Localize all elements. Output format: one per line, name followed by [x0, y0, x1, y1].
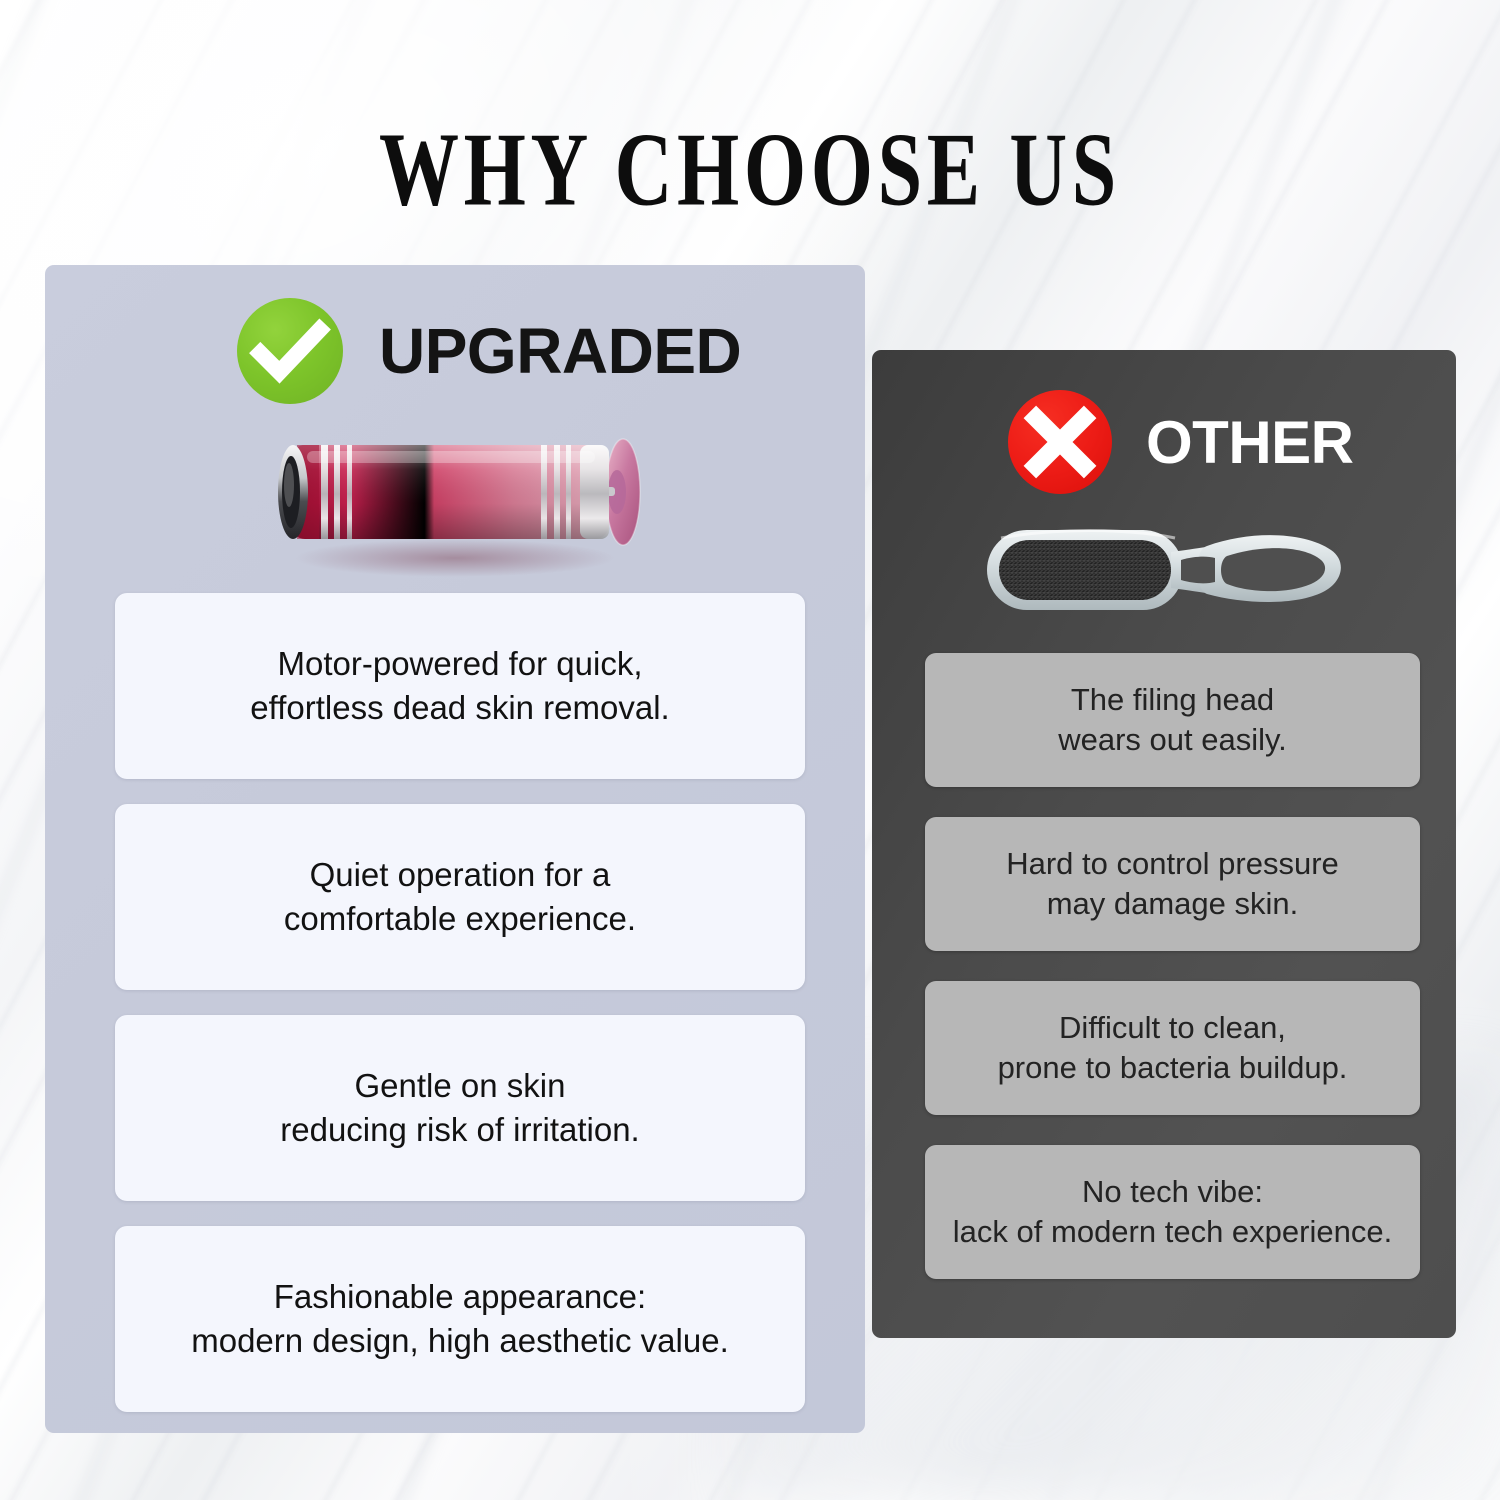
list-item: Gentle on skin reducing risk of irritati…	[115, 1015, 805, 1201]
list-item: No tech vibe: lack of modern tech experi…	[925, 1145, 1420, 1279]
feature-text: Difficult to clean, prone to bacteria bu…	[998, 1008, 1348, 1089]
x-circle-icon	[1008, 390, 1112, 494]
header-other: OTHER	[1008, 390, 1354, 494]
upgraded-label: UPGRADED	[379, 314, 741, 388]
other-label: OTHER	[1146, 408, 1354, 477]
feature-text: Motor-powered for quick, effortless dead…	[250, 642, 669, 729]
feature-text: Hard to control pressure may damage skin…	[1006, 844, 1339, 925]
list-item: Hard to control pressure may damage skin…	[925, 817, 1420, 951]
feature-text: The filing head wears out easily.	[1058, 680, 1287, 761]
list-item: Fashionable appearance: modern design, h…	[115, 1226, 805, 1412]
list-item: Quiet operation for a comfortable experi…	[115, 804, 805, 990]
header-upgraded: UPGRADED	[237, 298, 741, 404]
list-item: Difficult to clean, prone to bacteria bu…	[925, 981, 1420, 1115]
check-circle-icon	[237, 298, 343, 404]
other-feature-list: The filing head wears out easily. Hard t…	[925, 653, 1420, 1279]
list-item: The filing head wears out easily.	[925, 653, 1420, 787]
feature-text: No tech vibe: lack of modern tech experi…	[953, 1172, 1392, 1253]
feature-text: Quiet operation for a comfortable experi…	[284, 853, 636, 940]
infographic-canvas: WHY CHOOSE US UPGRADED	[0, 0, 1500, 1500]
upgraded-feature-list: Motor-powered for quick, effortless dead…	[115, 593, 805, 1412]
list-item: Motor-powered for quick, effortless dead…	[115, 593, 805, 779]
page-title: WHY CHOOSE US	[53, 108, 1448, 230]
feature-text: Gentle on skin reducing risk of irritati…	[280, 1064, 639, 1151]
feature-text: Fashionable appearance: modern design, h…	[191, 1275, 729, 1362]
electric-callus-remover-image	[255, 415, 665, 585]
manual-foot-file-image	[975, 516, 1355, 624]
